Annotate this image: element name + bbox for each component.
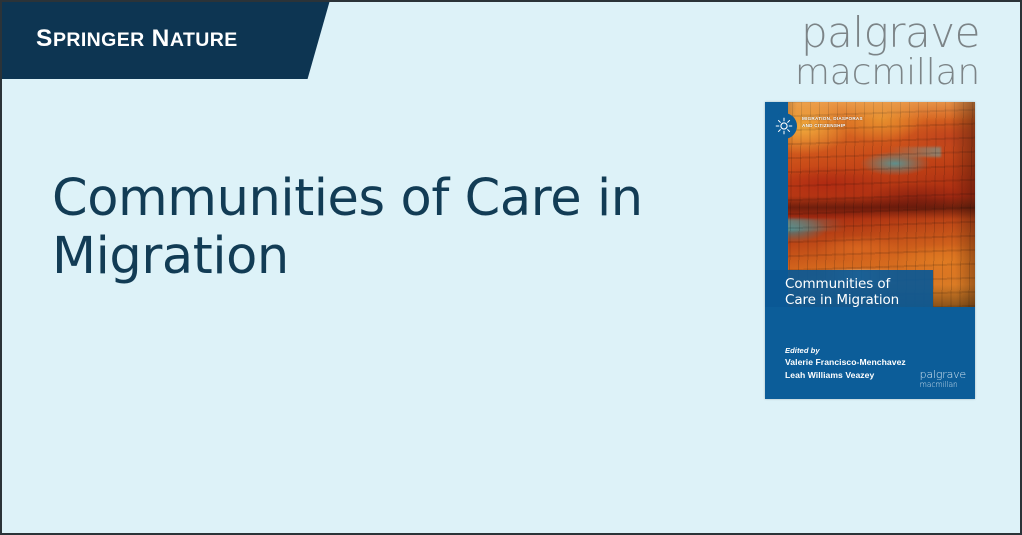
cover-imprint-line2: macmillan bbox=[920, 381, 966, 389]
palgrave-macmillan-logo: palgrave macmillan bbox=[795, 12, 980, 90]
springer-nature-banner: SPRINGERNATURE bbox=[0, 0, 330, 79]
wordmark-nature-rest: ATURE bbox=[170, 29, 238, 51]
edited-by-label: Edited by bbox=[785, 345, 906, 356]
series-name-label: MIGRATION, DIASPORAS AND CITIZENSHIP bbox=[802, 115, 868, 129]
wordmark-springer-cap: S bbox=[36, 25, 53, 52]
springer-nature-wordmark: SPRINGERNATURE bbox=[36, 27, 238, 52]
wordmark-nature-cap: N bbox=[152, 25, 170, 52]
palgrave-logo-line2: macmillan bbox=[795, 55, 980, 90]
cover-lower-panel: Edited by Valerie Francisco-Menchavez Le… bbox=[765, 307, 975, 399]
promo-banner: SPRINGERNATURE palgrave macmillan Commun… bbox=[0, 0, 1022, 535]
cover-imprint-line1: palgrave bbox=[920, 369, 966, 380]
cover-palgrave-macmillan-logo: palgrave macmillan bbox=[920, 369, 966, 389]
palgrave-logo-line1: palgrave bbox=[795, 12, 980, 53]
editor-name-1: Valerie Francisco-Menchavez bbox=[785, 356, 906, 369]
cover-editors-block: Edited by Valerie Francisco-Menchavez Le… bbox=[785, 345, 906, 382]
book-cover-image: MIGRATION, DIASPORAS AND CITIZENSHIP Com… bbox=[765, 102, 975, 399]
editor-name-2: Leah Williams Veazey bbox=[785, 369, 906, 382]
page-title: Communities of Care in Migration bbox=[52, 170, 662, 286]
cover-title-line1: Communities of bbox=[785, 276, 925, 292]
wordmark-springer-rest: PRINGER bbox=[53, 29, 145, 51]
series-badge: MIGRATION, DIASPORAS AND CITIZENSHIP bbox=[771, 113, 868, 139]
palgrave-sun-icon bbox=[771, 113, 797, 139]
